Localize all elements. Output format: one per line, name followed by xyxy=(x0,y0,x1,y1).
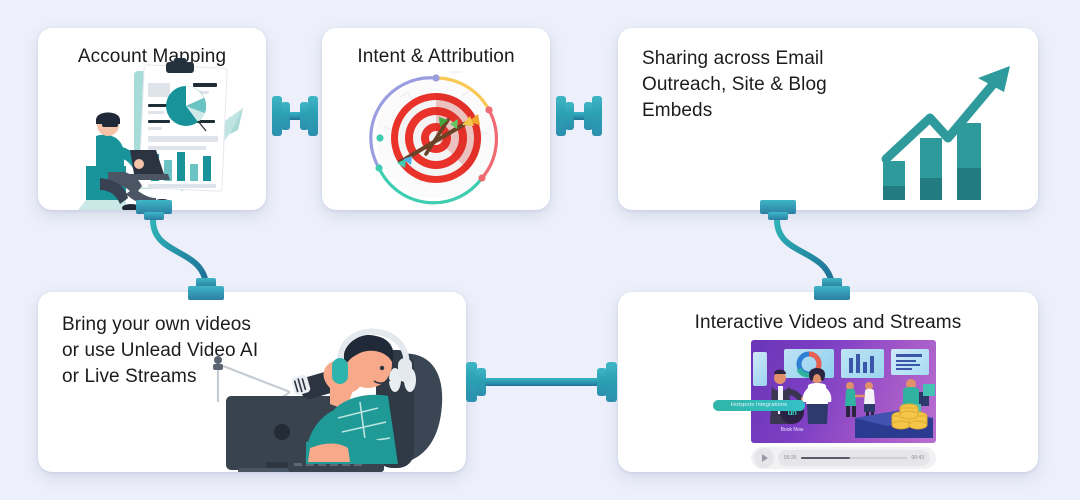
plug-bottom xyxy=(814,278,850,300)
diagram-canvas: Account Mapping xyxy=(0,0,1080,500)
play-icon[interactable] xyxy=(754,448,774,468)
connector-account-to-byov xyxy=(128,198,268,306)
connector-account-to-intent xyxy=(272,92,318,140)
audience-pair xyxy=(845,382,875,418)
presenter-woman xyxy=(803,368,832,424)
bar-2 xyxy=(920,138,942,200)
growth-arrow-icon xyxy=(886,66,1010,159)
card-interactive-videos[interactable]: Interactive Videos and Streams xyxy=(618,292,1038,472)
connector-byov-to-interactive xyxy=(466,358,618,406)
card-bring-your-own-videos[interactable]: Bring your own videos or use Unlead Vide… xyxy=(38,292,466,472)
bar-3 xyxy=(957,123,981,200)
time-total: 00:43 xyxy=(911,455,924,461)
card-account-mapping[interactable]: Account Mapping xyxy=(38,28,266,210)
plug-top xyxy=(136,200,172,220)
bar-1 xyxy=(883,161,905,200)
video-seek-bar[interactable]: 00:26 00:43 xyxy=(778,450,930,466)
card-intent-attribution[interactable]: Intent & Attribution xyxy=(322,28,550,210)
account-mapping-illustration xyxy=(38,28,266,210)
seek-fill xyxy=(801,457,850,459)
target-dartboard-illustration xyxy=(322,28,550,210)
time-current: 00:26 xyxy=(784,455,797,461)
connector-sharing-to-interactive xyxy=(752,198,892,306)
streamer-illustration xyxy=(38,292,466,472)
plug-bottom xyxy=(188,278,224,300)
card-interactive-videos-title: Interactive Videos and Streams xyxy=(618,310,1038,336)
card-sharing-channels[interactable]: Sharing across Email Outreach, Site & Bl… xyxy=(618,28,1038,210)
hotspot-integrations-pill[interactable]: Hotspots Integrations xyxy=(713,400,805,411)
person-with-laptop-icon xyxy=(38,28,266,210)
book-now-caption: Book Now xyxy=(768,427,816,433)
plug-top xyxy=(760,200,796,220)
seek-track[interactable] xyxy=(801,457,908,459)
growth-bar-chart-illustration xyxy=(618,28,1038,210)
video-preview-frame[interactable]: un Book Now xyxy=(751,340,936,443)
connector-intent-to-sharing xyxy=(556,92,602,140)
